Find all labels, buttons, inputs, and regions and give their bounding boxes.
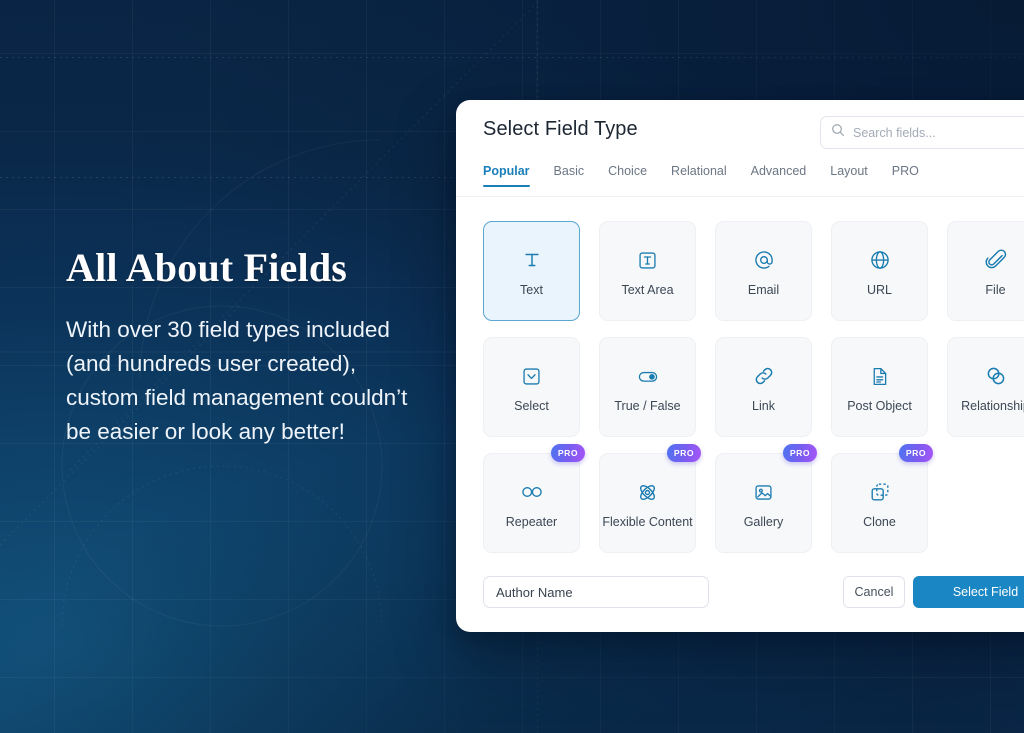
email-at-icon [753, 245, 775, 275]
field-card-flexible-content[interactable]: PRO Flexible Content [599, 453, 696, 553]
tab-basic[interactable]: Basic [554, 164, 585, 187]
image-icon [753, 477, 774, 507]
pro-badge: PRO [899, 444, 933, 462]
field-card-select[interactable]: Select [483, 337, 580, 437]
field-card-label: Select [514, 399, 549, 413]
field-category-tabs: Popular Basic Choice Relational Advanced… [483, 164, 1024, 196]
field-card-repeater[interactable]: PRO Repeater [483, 453, 580, 553]
text-area-icon [637, 245, 658, 275]
modal-title: Select Field Type [483, 118, 638, 141]
tabs-divider [456, 196, 1024, 197]
toggle-icon [636, 361, 660, 391]
field-card-label: Text [520, 283, 543, 297]
link-chain-icon [753, 361, 775, 391]
search-icon [831, 123, 845, 142]
field-card-text[interactable]: Text [483, 221, 580, 321]
field-card-gallery[interactable]: PRO Gallery [715, 453, 812, 553]
interlocking-circles-icon [984, 361, 1008, 391]
tab-choice[interactable]: Choice [608, 164, 647, 187]
infinity-icon [519, 477, 545, 507]
search-field[interactable] [820, 116, 1024, 149]
select-field-button[interactable]: Select Field [913, 576, 1024, 608]
field-card-clone[interactable]: PRO Clone [831, 453, 928, 553]
field-type-grid: Text Text Area [483, 221, 1024, 569]
cancel-button[interactable]: Cancel [843, 576, 905, 608]
hero-copy: All About Fields With over 30 field type… [66, 246, 426, 449]
atom-icon [636, 477, 659, 507]
screenshot-stage: All About Fields With over 30 field type… [0, 0, 1024, 733]
field-card-email[interactable]: Email [715, 221, 812, 321]
paperclip-icon [985, 245, 1007, 275]
field-card-label: File [985, 283, 1005, 297]
globe-icon [869, 245, 891, 275]
pro-badge: PRO [667, 444, 701, 462]
field-card-label: Flexible Content [602, 515, 692, 529]
field-card-label: Repeater [506, 515, 557, 529]
page-title: All About Fields [66, 246, 426, 289]
field-card-label: Gallery [744, 515, 784, 529]
author-name-input[interactable] [483, 576, 709, 608]
field-card-file[interactable]: File [947, 221, 1024, 321]
document-icon [869, 361, 890, 391]
search-input[interactable] [853, 126, 1024, 140]
modal-footer: Cancel Select Field [456, 562, 1024, 632]
pro-badge: PRO [551, 444, 585, 462]
field-card-label: Post Object [847, 399, 912, 413]
field-card-label: Link [752, 399, 775, 413]
modal-header: Select Field Type [456, 100, 1024, 164]
select-field-type-modal: Select Field Type Popular Basic Choice R… [456, 100, 1024, 632]
field-card-label: Email [748, 283, 779, 297]
field-card-post-object[interactable]: Post Object [831, 337, 928, 437]
field-card-label: Text Area [621, 283, 673, 297]
field-card-label: Clone [863, 515, 896, 529]
field-type-row: Text Text Area [483, 221, 1024, 337]
tab-advanced[interactable]: Advanced [751, 164, 807, 187]
tab-layout[interactable]: Layout [830, 164, 868, 187]
hero-description: With over 30 field types included (and h… [66, 313, 426, 449]
pro-badge: PRO [783, 444, 817, 462]
field-type-row: PRO Repeater PRO [483, 453, 1024, 569]
field-card-link[interactable]: Link [715, 337, 812, 437]
select-chevron-icon [521, 361, 542, 391]
field-card-label: URL [867, 283, 892, 297]
tab-pro[interactable]: PRO [892, 164, 919, 187]
field-card-label: Relationship [961, 399, 1024, 413]
text-t-icon [521, 245, 543, 275]
field-card-true-false[interactable]: True / False [599, 337, 696, 437]
clone-icon [869, 477, 891, 507]
field-card-text-area[interactable]: Text Area [599, 221, 696, 321]
field-card-url[interactable]: URL [831, 221, 928, 321]
field-type-row: Select True / False [483, 337, 1024, 453]
tab-relational[interactable]: Relational [671, 164, 727, 187]
tab-popular[interactable]: Popular [483, 164, 530, 187]
field-card-relationship[interactable]: Relationship [947, 337, 1024, 437]
field-card-label: True / False [614, 399, 680, 413]
